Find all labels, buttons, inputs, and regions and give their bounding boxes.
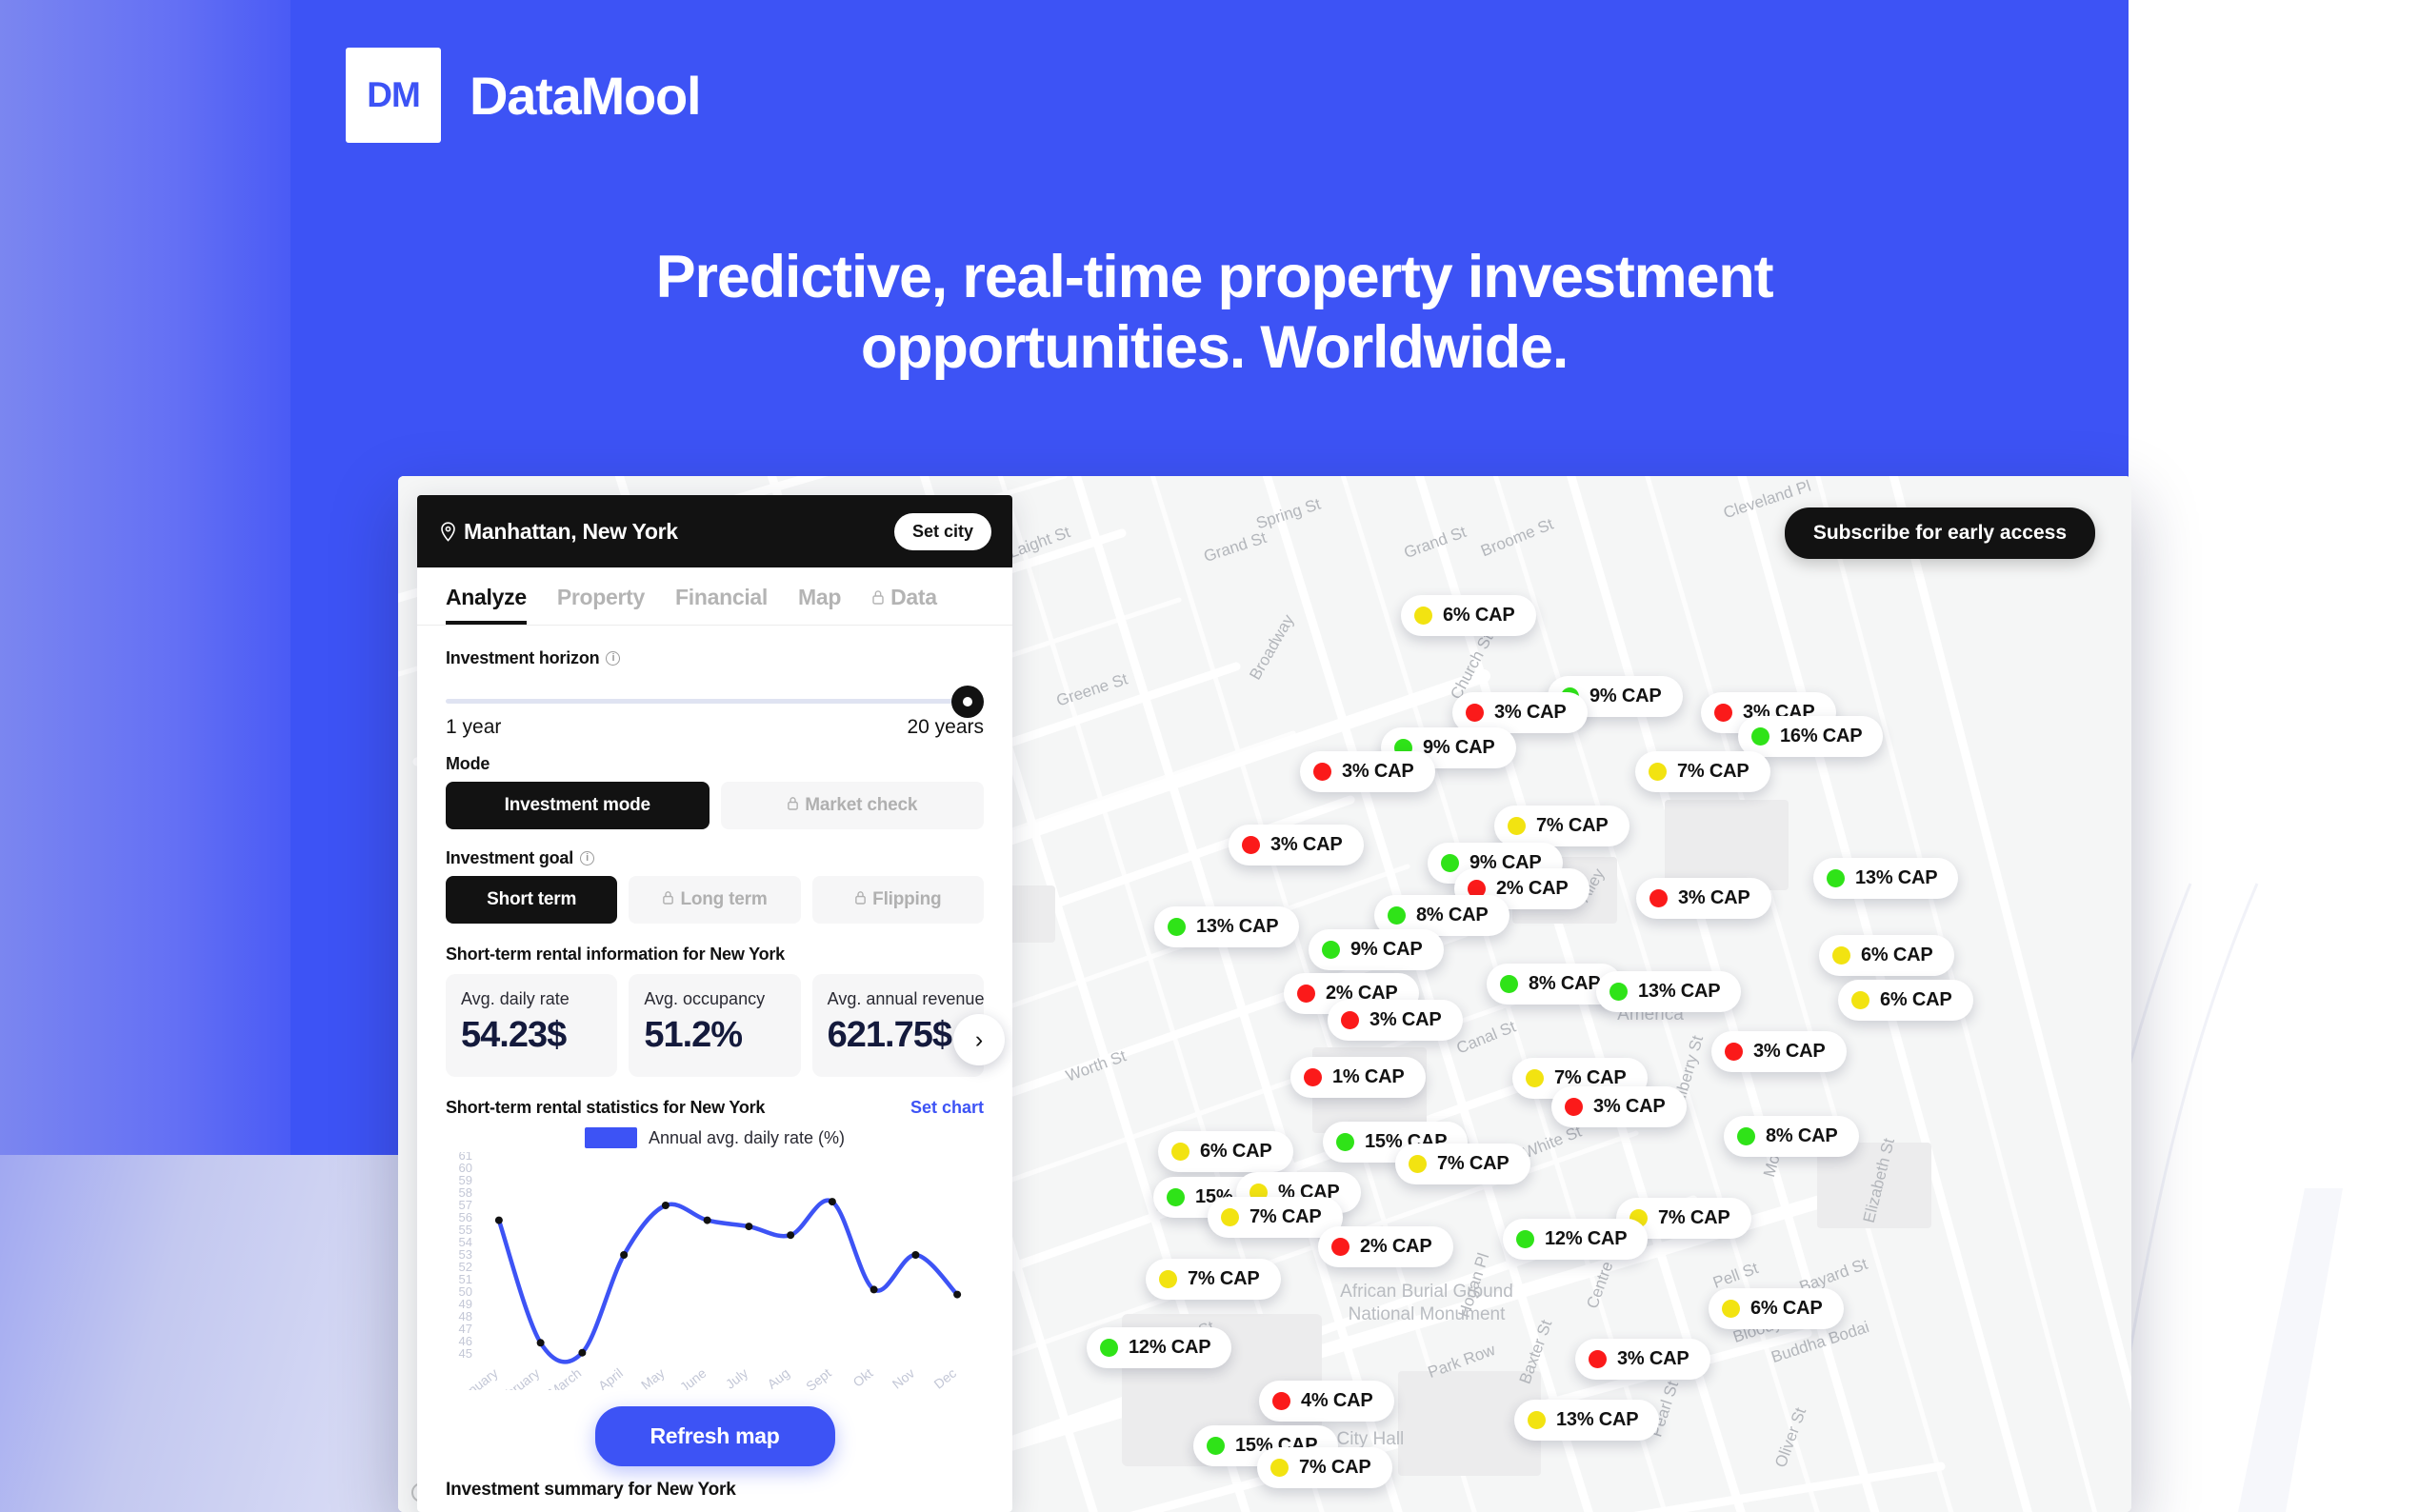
map-pin[interactable]: 1% CAP bbox=[1290, 1057, 1426, 1098]
brand-name: DataMool bbox=[470, 65, 700, 127]
map-pin[interactable]: 13% CAP bbox=[1514, 1400, 1659, 1441]
svg-text:Nov: Nov bbox=[890, 1365, 917, 1390]
tab-data[interactable]: Data bbox=[871, 585, 937, 625]
map-pin[interactable]: 12% CAP bbox=[1503, 1219, 1648, 1260]
cap-rate-dot-icon bbox=[1207, 1437, 1225, 1455]
cap-rate-dot-icon bbox=[1832, 946, 1850, 965]
cap-rate-label: 7% CAP bbox=[1299, 1457, 1371, 1479]
cap-rate-label: 6% CAP bbox=[1750, 1298, 1823, 1320]
cap-rate-dot-icon bbox=[1272, 1392, 1290, 1410]
cap-rate-label: 1% CAP bbox=[1332, 1066, 1405, 1088]
tab-analyze[interactable]: Analyze bbox=[446, 585, 527, 625]
cap-rate-label: 12% CAP bbox=[1129, 1337, 1210, 1359]
cap-rate-label: 8% CAP bbox=[1529, 973, 1601, 995]
cap-rate-label: 3% CAP bbox=[1678, 887, 1750, 909]
investment-horizon-slider[interactable] bbox=[446, 680, 984, 722]
poi-label: African Burial Ground National Monument bbox=[1317, 1281, 1536, 1326]
stat-card-value: 54.23$ bbox=[461, 1015, 602, 1056]
map-pin[interactable]: 8% CAP bbox=[1724, 1116, 1859, 1157]
svg-text:47: 47 bbox=[459, 1322, 472, 1336]
cap-rate-dot-icon bbox=[1331, 1238, 1349, 1256]
cap-rate-label: 3% CAP bbox=[1593, 1096, 1666, 1118]
tab-financial[interactable]: Financial bbox=[675, 585, 768, 625]
tab-label: Property bbox=[557, 585, 645, 610]
mode-label: Mode bbox=[446, 754, 984, 774]
cap-rate-label: 8% CAP bbox=[1766, 1125, 1838, 1147]
subscribe-button[interactable]: Subscribe for early access bbox=[1785, 507, 2095, 559]
stat-card: Avg. occupancy51.2% bbox=[629, 974, 800, 1077]
cap-rate-dot-icon bbox=[1221, 1208, 1239, 1226]
svg-text:46: 46 bbox=[459, 1334, 472, 1348]
map-pin[interactable]: 6% CAP bbox=[1709, 1288, 1844, 1329]
cap-rate-label: 12% CAP bbox=[1545, 1228, 1627, 1250]
cap-rate-dot-icon bbox=[1851, 991, 1869, 1009]
info-icon[interactable]: i bbox=[606, 651, 620, 666]
slider-thumb[interactable] bbox=[951, 686, 984, 718]
map-pin[interactable]: 4% CAP bbox=[1259, 1381, 1394, 1422]
map-pin[interactable]: 7% CAP bbox=[1494, 806, 1629, 846]
cap-rate-dot-icon bbox=[1722, 1300, 1740, 1318]
cap-rate-dot-icon bbox=[1751, 727, 1769, 746]
panel-city-row: Manhattan, New York bbox=[440, 519, 678, 545]
chart-data-point bbox=[953, 1291, 961, 1299]
chart-legend-label: Annual avg. daily rate (%) bbox=[649, 1128, 845, 1148]
cap-rate-label: 9% CAP bbox=[1589, 686, 1662, 707]
investment-goal-label-text: Investment goal bbox=[446, 848, 573, 868]
map-pin[interactable]: 6% CAP bbox=[1838, 980, 1973, 1021]
cap-rate-label: 9% CAP bbox=[1350, 939, 1423, 961]
panel-body: Investment horizon i 1 year 20 years Mod… bbox=[417, 626, 1012, 1512]
chart-line bbox=[499, 1201, 957, 1363]
set-chart-link[interactable]: Set chart bbox=[910, 1098, 984, 1118]
lock-icon bbox=[854, 889, 867, 910]
cap-rate-label: 13% CAP bbox=[1196, 916, 1278, 938]
svg-text:Aug: Aug bbox=[764, 1365, 791, 1390]
mode-investment-mode[interactable]: Investment mode bbox=[446, 782, 710, 829]
map-pin[interactable]: 6% CAP bbox=[1819, 935, 1954, 976]
chart-legend-swatch bbox=[585, 1127, 637, 1148]
chart-data-point bbox=[911, 1251, 919, 1259]
cap-rate-dot-icon bbox=[1159, 1270, 1177, 1288]
map-pin[interactable]: 3% CAP bbox=[1636, 878, 1771, 919]
stat-card-caption: Avg. annual revenue bbox=[828, 989, 969, 1009]
rental-info-header: Short-term rental information for New Yo… bbox=[446, 945, 984, 965]
chart-legend: Annual avg. daily rate (%) bbox=[446, 1127, 984, 1148]
cap-rate-label: 7% CAP bbox=[1188, 1268, 1260, 1290]
slider-track[interactable] bbox=[446, 699, 984, 704]
svg-text:56: 56 bbox=[459, 1210, 472, 1224]
cap-rate-label: 2% CAP bbox=[1360, 1236, 1432, 1258]
map-pin[interactable]: 3% CAP bbox=[1575, 1339, 1710, 1380]
cap-rate-label: 8% CAP bbox=[1416, 905, 1489, 926]
mode-market-check[interactable]: Market check bbox=[721, 782, 985, 829]
cap-rate-dot-icon bbox=[1441, 854, 1459, 872]
cap-rate-dot-icon bbox=[1304, 1068, 1322, 1086]
svg-text:54: 54 bbox=[459, 1235, 472, 1249]
cap-rate-dot-icon bbox=[1649, 889, 1668, 907]
map-pin[interactable]: 13% CAP bbox=[1813, 858, 1958, 899]
svg-text:May: May bbox=[638, 1365, 668, 1390]
tab-label: Analyze bbox=[446, 585, 527, 610]
svg-text:Dec: Dec bbox=[930, 1365, 958, 1390]
cap-rate-dot-icon bbox=[1516, 1230, 1534, 1248]
chart-data-point bbox=[787, 1231, 794, 1239]
rental-stat-cards: Avg. daily rate54.23$Avg. occupancy51.2%… bbox=[446, 974, 984, 1077]
stat-card-value: 51.2% bbox=[644, 1015, 785, 1056]
map-pin[interactable]: 7% CAP bbox=[1395, 1144, 1530, 1184]
svg-text:April: April bbox=[595, 1365, 626, 1390]
cap-rate-dot-icon bbox=[1414, 607, 1432, 625]
investment-summary-title: Investment summary for New York bbox=[446, 1480, 736, 1501]
brand-logo[interactable]: DM DataMool bbox=[346, 48, 700, 143]
cap-rate-dot-icon bbox=[1714, 704, 1732, 722]
hero-headline: Predictive, real-time property investmen… bbox=[590, 243, 1838, 383]
investment-goal-segmented-control[interactable]: Short termLong termFlipping bbox=[446, 876, 984, 924]
svg-text:50: 50 bbox=[459, 1284, 472, 1299]
svg-text:57: 57 bbox=[459, 1198, 472, 1212]
investment-horizon-label-text: Investment horizon bbox=[446, 648, 599, 668]
map-pin[interactable]: 3% CAP bbox=[1711, 1031, 1847, 1072]
panel-header: Manhattan, New York Set city bbox=[417, 495, 1012, 567]
map-pin[interactable]: 6% CAP bbox=[1401, 595, 1536, 636]
set-city-button[interactable]: Set city bbox=[894, 513, 991, 550]
cap-rate-label: 7% CAP bbox=[1536, 815, 1609, 837]
chart-data-point bbox=[704, 1217, 711, 1224]
map-pin[interactable]: 13% CAP bbox=[1154, 906, 1299, 947]
cap-rate-dot-icon bbox=[1313, 763, 1331, 781]
cap-rate-dot-icon bbox=[1409, 1155, 1427, 1173]
cap-rate-dot-icon bbox=[1341, 1011, 1359, 1029]
app-window: Grand StBroome StCleveland PlLaight StHu… bbox=[398, 476, 2131, 1512]
tab-label: Map bbox=[798, 585, 841, 610]
investment-horizon-label: Investment horizon i bbox=[446, 648, 984, 668]
svg-text:July: July bbox=[723, 1365, 750, 1390]
stat-card-caption: Avg. daily rate bbox=[461, 989, 602, 1009]
cap-rate-dot-icon bbox=[1500, 975, 1518, 993]
svg-text:52: 52 bbox=[459, 1260, 472, 1274]
cap-rate-dot-icon bbox=[1827, 869, 1845, 887]
chart-data-point bbox=[537, 1339, 545, 1346]
cap-rate-label: 7% CAP bbox=[1437, 1153, 1509, 1175]
lock-icon bbox=[662, 889, 674, 910]
cap-rate-label: 7% CAP bbox=[1677, 761, 1749, 783]
segment-label: Short term bbox=[487, 889, 576, 910]
map-pin[interactable]: 16% CAP bbox=[1738, 716, 1883, 757]
goal-short-term[interactable]: Short term bbox=[446, 876, 617, 924]
info-icon[interactable]: i bbox=[580, 851, 594, 865]
chart-data-point bbox=[495, 1217, 503, 1224]
tab-map[interactable]: Map bbox=[798, 585, 841, 625]
cap-rate-dot-icon bbox=[1466, 704, 1484, 722]
svg-text:Sept: Sept bbox=[803, 1365, 834, 1390]
cap-rate-label: 4% CAP bbox=[1301, 1390, 1373, 1412]
cap-rate-dot-icon bbox=[1649, 763, 1667, 781]
map-pin[interactable]: 12% CAP bbox=[1087, 1327, 1231, 1368]
cap-rate-label: 7% CAP bbox=[1249, 1206, 1322, 1228]
refresh-map-button[interactable]: Refresh map bbox=[594, 1406, 834, 1466]
chart-data-point bbox=[662, 1202, 670, 1209]
chart-data-point bbox=[870, 1285, 878, 1293]
tab-label: Financial bbox=[675, 585, 768, 610]
map-pin[interactable]: 7% CAP bbox=[1208, 1197, 1343, 1238]
svg-text:48: 48 bbox=[459, 1309, 472, 1323]
segment-label: Market check bbox=[805, 795, 917, 816]
cap-rate-dot-icon bbox=[1725, 1043, 1743, 1061]
svg-text:53: 53 bbox=[459, 1247, 472, 1262]
cap-rate-label: 7% CAP bbox=[1658, 1207, 1730, 1229]
stat-card-caption: Avg. occupancy bbox=[644, 989, 785, 1009]
svg-text:45: 45 bbox=[459, 1346, 472, 1361]
chart-data-point bbox=[829, 1198, 836, 1205]
location-pin-icon bbox=[440, 522, 456, 542]
cap-rate-dot-icon bbox=[1737, 1127, 1755, 1145]
chart-data-point bbox=[745, 1223, 752, 1230]
mode-label-text: Mode bbox=[446, 754, 490, 774]
cap-rate-label: 2% CAP bbox=[1496, 878, 1569, 900]
segment-label: Flipping bbox=[872, 889, 941, 910]
rental-stats-header: Short-term rental statistics for New Yor… bbox=[446, 1098, 984, 1118]
svg-text:61: 61 bbox=[459, 1152, 472, 1163]
investment-goal-label: Investment goal i bbox=[446, 848, 984, 868]
cap-rate-label: 6% CAP bbox=[1861, 945, 1933, 966]
map-pin[interactable]: 7% CAP bbox=[1257, 1447, 1392, 1488]
map-pin[interactable]: 3% CAP bbox=[1551, 1086, 1687, 1127]
rental-stats-title: Short-term rental statistics for New Yor… bbox=[446, 1098, 765, 1118]
map-pin[interactable]: 3% CAP bbox=[1328, 1000, 1463, 1041]
svg-text:49: 49 bbox=[459, 1297, 472, 1311]
segment-label: Long term bbox=[680, 889, 767, 910]
cap-rate-dot-icon bbox=[1526, 1069, 1544, 1087]
cap-rate-dot-icon bbox=[1297, 985, 1315, 1003]
map-pin[interactable]: 3% CAP bbox=[1229, 825, 1364, 865]
cap-rate-label: 3% CAP bbox=[1494, 702, 1567, 724]
cap-rate-dot-icon bbox=[1168, 918, 1186, 936]
cap-rate-dot-icon bbox=[1336, 1133, 1354, 1151]
map-pin[interactable]: 7% CAP bbox=[1635, 751, 1770, 792]
stat-card: Avg. daily rate54.23$ bbox=[446, 974, 617, 1077]
lock-icon bbox=[787, 795, 799, 816]
goal-long-term[interactable]: Long term bbox=[629, 876, 800, 924]
cap-rate-label: 6% CAP bbox=[1200, 1141, 1272, 1163]
segment-label: Investment mode bbox=[505, 795, 650, 816]
map-pin[interactable]: 2% CAP bbox=[1318, 1226, 1453, 1267]
cap-rate-dot-icon bbox=[1508, 817, 1526, 835]
cap-rate-label: 9% CAP bbox=[1423, 737, 1495, 759]
tab-property[interactable]: Property bbox=[557, 585, 645, 625]
analysis-panel: Manhattan, New York Set city AnalyzeProp… bbox=[417, 495, 1012, 1512]
cap-rate-label: 16% CAP bbox=[1780, 726, 1862, 747]
lock-icon bbox=[871, 585, 885, 610]
cap-rate-dot-icon bbox=[1242, 836, 1260, 854]
goal-flipping[interactable]: Flipping bbox=[812, 876, 984, 924]
panel-city-name: Manhattan, New York bbox=[464, 519, 678, 545]
cap-rate-dot-icon bbox=[1388, 906, 1406, 925]
cap-rate-dot-icon bbox=[1167, 1188, 1185, 1206]
brand-mark-icon: DM bbox=[346, 48, 441, 143]
svg-text:March: March bbox=[546, 1365, 585, 1390]
cap-rate-label: 13% CAP bbox=[1638, 981, 1720, 1003]
map-pin[interactable]: 3% CAP bbox=[1300, 751, 1435, 792]
svg-text:Okt: Okt bbox=[850, 1365, 875, 1390]
svg-text:55: 55 bbox=[459, 1223, 472, 1237]
map-pin[interactable]: 7% CAP bbox=[1146, 1259, 1281, 1300]
map-pin[interactable]: 13% CAP bbox=[1596, 971, 1741, 1012]
cap-rate-label: 3% CAP bbox=[1753, 1041, 1826, 1063]
cap-rate-label: 3% CAP bbox=[1617, 1348, 1689, 1370]
cap-rate-dot-icon bbox=[1100, 1339, 1118, 1357]
cap-rate-label: 3% CAP bbox=[1342, 761, 1414, 783]
cap-rate-label: 3% CAP bbox=[1369, 1009, 1442, 1031]
cap-rate-dot-icon bbox=[1171, 1143, 1190, 1161]
tab-label: Data bbox=[890, 585, 937, 610]
chart-data-point bbox=[578, 1349, 586, 1357]
rental-rate-chart: 4546474849505152535455565758596061Januar… bbox=[446, 1152, 984, 1395]
chart-svg: 4546474849505152535455565758596061Januar… bbox=[446, 1152, 984, 1390]
stat-card-value: 621.75$ bbox=[828, 1015, 969, 1056]
mode-segmented-control[interactable]: Investment modeMarket check bbox=[446, 782, 984, 829]
cap-rate-dot-icon bbox=[1589, 1350, 1607, 1368]
panel-tabs[interactable]: AnalyzePropertyFinancialMapData bbox=[417, 567, 1012, 626]
map-pin[interactable]: 6% CAP bbox=[1158, 1131, 1293, 1172]
chevron-right-icon[interactable]: › bbox=[953, 1014, 1005, 1065]
svg-text:51: 51 bbox=[459, 1272, 472, 1286]
cap-rate-label: 6% CAP bbox=[1880, 989, 1952, 1011]
chart-data-point bbox=[620, 1251, 628, 1259]
cap-rate-label: 13% CAP bbox=[1556, 1409, 1638, 1431]
cap-rate-dot-icon bbox=[1322, 941, 1340, 959]
svg-text:June: June bbox=[677, 1365, 710, 1390]
hero-left-gradient bbox=[0, 0, 290, 1155]
cap-rate-label: 13% CAP bbox=[1855, 867, 1937, 889]
svg-text:January: January bbox=[454, 1365, 501, 1390]
cap-rate-dot-icon bbox=[1528, 1411, 1546, 1429]
svg-text:60: 60 bbox=[459, 1161, 472, 1175]
rental-info-title: Short-term rental information for New Yo… bbox=[446, 945, 785, 965]
svg-text:59: 59 bbox=[459, 1173, 472, 1187]
cap-rate-dot-icon bbox=[1609, 983, 1628, 1001]
map-pin[interactable]: 9% CAP bbox=[1309, 929, 1444, 970]
cap-rate-dot-icon bbox=[1270, 1459, 1289, 1477]
cap-rate-label: 6% CAP bbox=[1443, 605, 1515, 627]
svg-text:58: 58 bbox=[459, 1185, 472, 1200]
cap-rate-dot-icon bbox=[1565, 1098, 1583, 1116]
cap-rate-label: 3% CAP bbox=[1270, 834, 1343, 856]
